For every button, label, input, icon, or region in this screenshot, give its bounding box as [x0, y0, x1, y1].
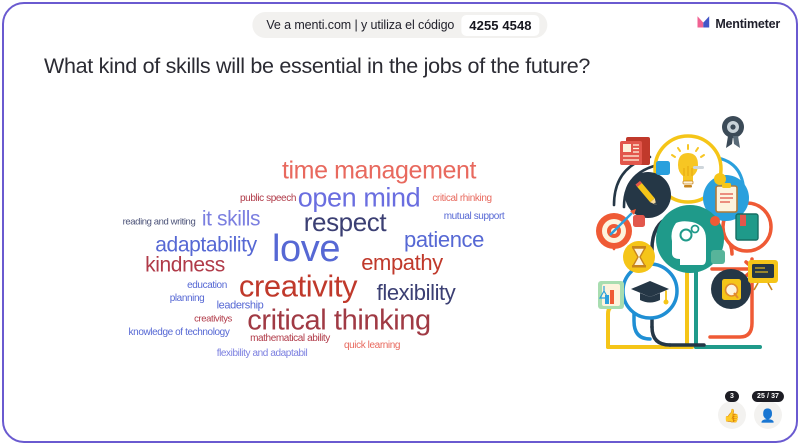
word-cloud-term: creativity: [239, 271, 357, 302]
word-cloud-term: quick learning: [344, 341, 400, 351]
footer-widgets: 3 👍 25 / 37 👤: [718, 401, 782, 429]
person-icon: 👤: [760, 409, 776, 422]
word-cloud-term: mathematical ability: [250, 334, 330, 344]
education-brain-tree-illustration: [592, 109, 782, 364]
join-code-value: 4255 4548: [461, 15, 539, 36]
word-cloud-term: creativitys: [194, 314, 232, 324]
word-cloud-term: critical thinking: [247, 307, 430, 336]
word-cloud-term: reading and writing: [123, 217, 196, 227]
join-code-pill: Ve a menti.com | y utiliza el código 425…: [252, 12, 547, 38]
reactions-count-badge: 3: [725, 391, 739, 402]
word-cloud-term: education: [187, 281, 227, 291]
mentimeter-logo: Mentimeter: [697, 15, 780, 33]
word-cloud-term: mutual support: [444, 212, 505, 222]
mentimeter-logo-icon: [697, 15, 710, 33]
word-cloud-term: patience: [404, 229, 484, 251]
reactions-button[interactable]: 3 👍: [718, 401, 746, 429]
word-cloud-term: love: [272, 230, 340, 268]
top-bar: Ve a menti.com | y utiliza el código 425…: [4, 4, 796, 44]
participants-button[interactable]: 25 / 37 👤: [754, 401, 782, 429]
word-cloud-term: planning: [170, 294, 205, 304]
word-cloud: time managementpublic speechopen mindcri…: [44, 144, 584, 384]
word-cloud-term: flexibility and adaptabil: [217, 349, 308, 359]
page-title: What kind of skills will be essential in…: [44, 54, 590, 79]
join-instruction-text: Ve a menti.com | y utiliza el código: [266, 18, 454, 32]
presentation-frame: Ve a menti.com | y utiliza el código 425…: [2, 2, 798, 443]
word-cloud-term: public speech: [240, 194, 296, 204]
thumbs-up-icon: 👍: [724, 409, 740, 422]
word-cloud-term: flexibility: [377, 282, 456, 304]
word-cloud-term: it skills: [202, 209, 260, 230]
word-cloud-term: time management: [282, 159, 476, 184]
word-cloud-term: kindness: [145, 255, 225, 276]
mentimeter-wordmark: Mentimeter: [715, 17, 780, 31]
word-cloud-term: empathy: [361, 252, 443, 274]
word-cloud-term: critical rhinking: [432, 194, 491, 204]
participants-count-badge: 25 / 37: [752, 391, 784, 402]
word-cloud-term: adaptability: [155, 235, 256, 256]
word-cloud-term: knowledge of technology: [129, 328, 230, 338]
